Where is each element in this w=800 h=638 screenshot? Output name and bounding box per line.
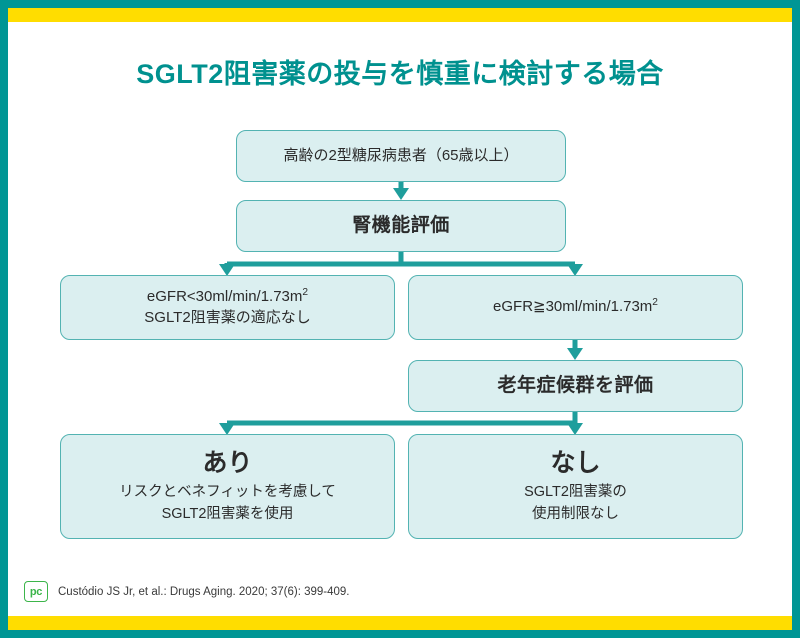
node-geriatric-syndrome-assessment: 老年症候群を評価 bbox=[408, 360, 743, 412]
node-egfr-high-line1: eGFR≧30ml/min/1.73m2 bbox=[493, 297, 658, 317]
node-geriatric-text: 老年症候群を評価 bbox=[497, 373, 653, 399]
node-no-headline: なし bbox=[550, 448, 600, 478]
node-yes-sub-line2: SGLT2阻害薬を使用 bbox=[162, 504, 294, 526]
node-renal-text: 腎機能評価 bbox=[352, 213, 450, 239]
node-yes-headline: あり bbox=[202, 448, 252, 478]
node-patient-text: 高齢の2型糖尿病患者（65歳以上） bbox=[283, 146, 518, 166]
node-renal-function-assessment: 腎機能評価 bbox=[236, 200, 566, 252]
node-geriatric-absent: なし SGLT2阻害薬の 使用制限なし bbox=[408, 434, 743, 539]
node-egfr-low-line2: SGLT2阻害薬の適応なし bbox=[144, 308, 310, 328]
node-egfr-below-30: eGFR<30ml/min/1.73m2 SGLT2阻害薬の適応なし bbox=[60, 275, 395, 340]
node-egfr-at-least-30: eGFR≧30ml/min/1.73m2 bbox=[408, 275, 743, 340]
page-title: SGLT2阻害薬の投与を慎重に検討する場合 bbox=[0, 52, 800, 91]
pc-logo-icon: pc bbox=[24, 581, 48, 602]
node-yes-sub-line1: リスクとベネフィットを考慮して bbox=[119, 482, 336, 504]
node-no-sub-line1: SGLT2阻害薬の bbox=[524, 482, 627, 504]
superscript-2: 2 bbox=[302, 287, 308, 298]
node-geriatric-present: あり リスクとベネフィットを考慮して SGLT2阻害薬を使用 bbox=[60, 434, 395, 539]
node-egfr-low-line1: eGFR<30ml/min/1.73m2 bbox=[147, 287, 308, 307]
accent-bar-top bbox=[8, 8, 792, 22]
superscript-2: 2 bbox=[652, 297, 658, 308]
accent-bar-bottom bbox=[8, 616, 792, 630]
node-no-sub-line2: 使用制限なし bbox=[532, 504, 619, 526]
citation-footer: pc Custódio JS Jr, et al.: Drugs Aging. … bbox=[24, 581, 350, 602]
slide-frame: SGLT2阻害薬の投与を慎重に検討する場合 bbox=[0, 0, 800, 638]
citation-text: Custódio JS Jr, et al.: Drugs Aging. 202… bbox=[58, 586, 350, 598]
node-elderly-t2d-patient: 高齢の2型糖尿病患者（65歳以上） bbox=[236, 130, 566, 182]
